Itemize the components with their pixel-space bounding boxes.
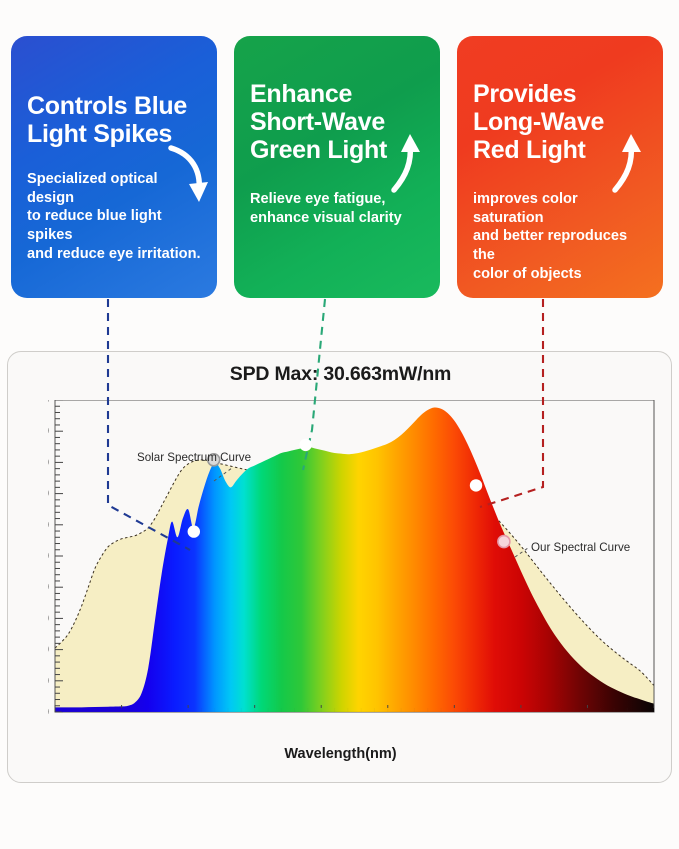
uv-baseline-strip	[62, 708, 654, 712]
spectral-power-distribution-plot: 3504204505005506006507007508000.000.100.…	[48, 400, 661, 720]
svg-text:0.40: 0.40	[48, 580, 49, 594]
x-axis-label: Wavelength(nm)	[8, 746, 673, 762]
feature-card-blue-title: Controls Blue Light Spikes	[27, 92, 201, 148]
chart-title: SPD Max: 30.663mW/nm	[8, 363, 673, 386]
svg-text:0.20: 0.20	[48, 643, 49, 657]
y-axis-tick-labels: 0.000.100.200.300.400.500.600.700.800.90…	[48, 400, 49, 719]
arrow-up-curved-icon	[603, 132, 651, 194]
feature-card-red[interactable]: Provides Long-Wave Red Light improves co…	[457, 36, 663, 298]
svg-text:0.80: 0.80	[48, 455, 49, 469]
svg-text:0.70: 0.70	[48, 487, 49, 501]
svg-text:0.10: 0.10	[48, 674, 49, 688]
arrow-up-curved-icon	[382, 132, 430, 194]
svg-text:0.60: 0.60	[48, 518, 49, 532]
spd-chart-panel: SPD Max: 30.663mW/nm 3504204505005506006…	[7, 351, 672, 783]
svg-text:0.30: 0.30	[48, 611, 49, 625]
feature-card-blue[interactable]: Controls Blue Light Spikes Specialized o…	[11, 36, 217, 298]
feature-card-green[interactable]: Enhance Short-Wave Green Light Relieve e…	[234, 36, 440, 298]
svg-text:0.00: 0.00	[48, 705, 49, 719]
feature-card-red-description: improves color saturation and better rep…	[473, 190, 647, 283]
svg-text:0.50: 0.50	[48, 549, 49, 563]
svg-text:1.00: 1.00	[48, 400, 49, 407]
svg-text:0.90: 0.90	[48, 424, 49, 438]
feature-cards-row: Controls Blue Light Spikes Specialized o…	[0, 0, 679, 300]
arrow-down-curved-icon	[161, 144, 209, 206]
chart-plot-area: 3504204505005506006507007508000.000.100.…	[48, 400, 661, 720]
feature-card-green-description: Relieve eye fatigue, enhance visual clar…	[250, 190, 424, 227]
